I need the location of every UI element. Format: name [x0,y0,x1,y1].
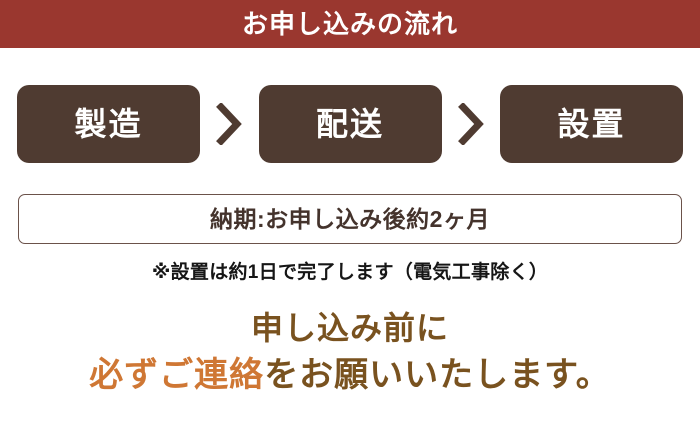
step-box-delivery: 配送 [259,85,442,163]
installation-note-text: ※設置は約1日で完了します（電気工事除く） [152,262,548,283]
step-box-installation: 設置 [500,85,683,163]
step-label: 配送 [316,108,384,140]
header-bar: お申し込みの流れ [0,0,700,48]
delivery-time-text: 納期:お申し込み後約2ヶ月 [210,208,490,231]
step-label: 設置 [557,108,625,140]
installation-note: ※設置は約1日で完了します（電気工事除く） [0,262,700,285]
closing-rest-text: をお願いいたします。 [264,356,611,394]
page-title: お申し込みの流れ [242,0,458,48]
closing-line-1: 申し込み前に [0,305,700,351]
closing-line-2: 必ずご連絡をお願いいたします。 [0,351,700,400]
step-flow: 製造 配送 設置 [17,85,683,163]
step-label: 製造 [74,108,142,140]
closing-accent-text: 必ずご連絡 [89,356,264,394]
chevron-right-icon [454,85,488,163]
delivery-time-box: 納期:お申し込み後約2ヶ月 [18,194,682,244]
closing-message: 申し込み前に 必ずご連絡をお願いいたします。 [0,305,700,401]
chevron-right-icon [212,85,246,163]
application-flow-banner: お申し込みの流れ 製造 配送 設置 納期:お申し込み後約2ヶ月 ※設置は約1日で… [0,0,700,435]
step-box-manufacture: 製造 [17,85,200,163]
